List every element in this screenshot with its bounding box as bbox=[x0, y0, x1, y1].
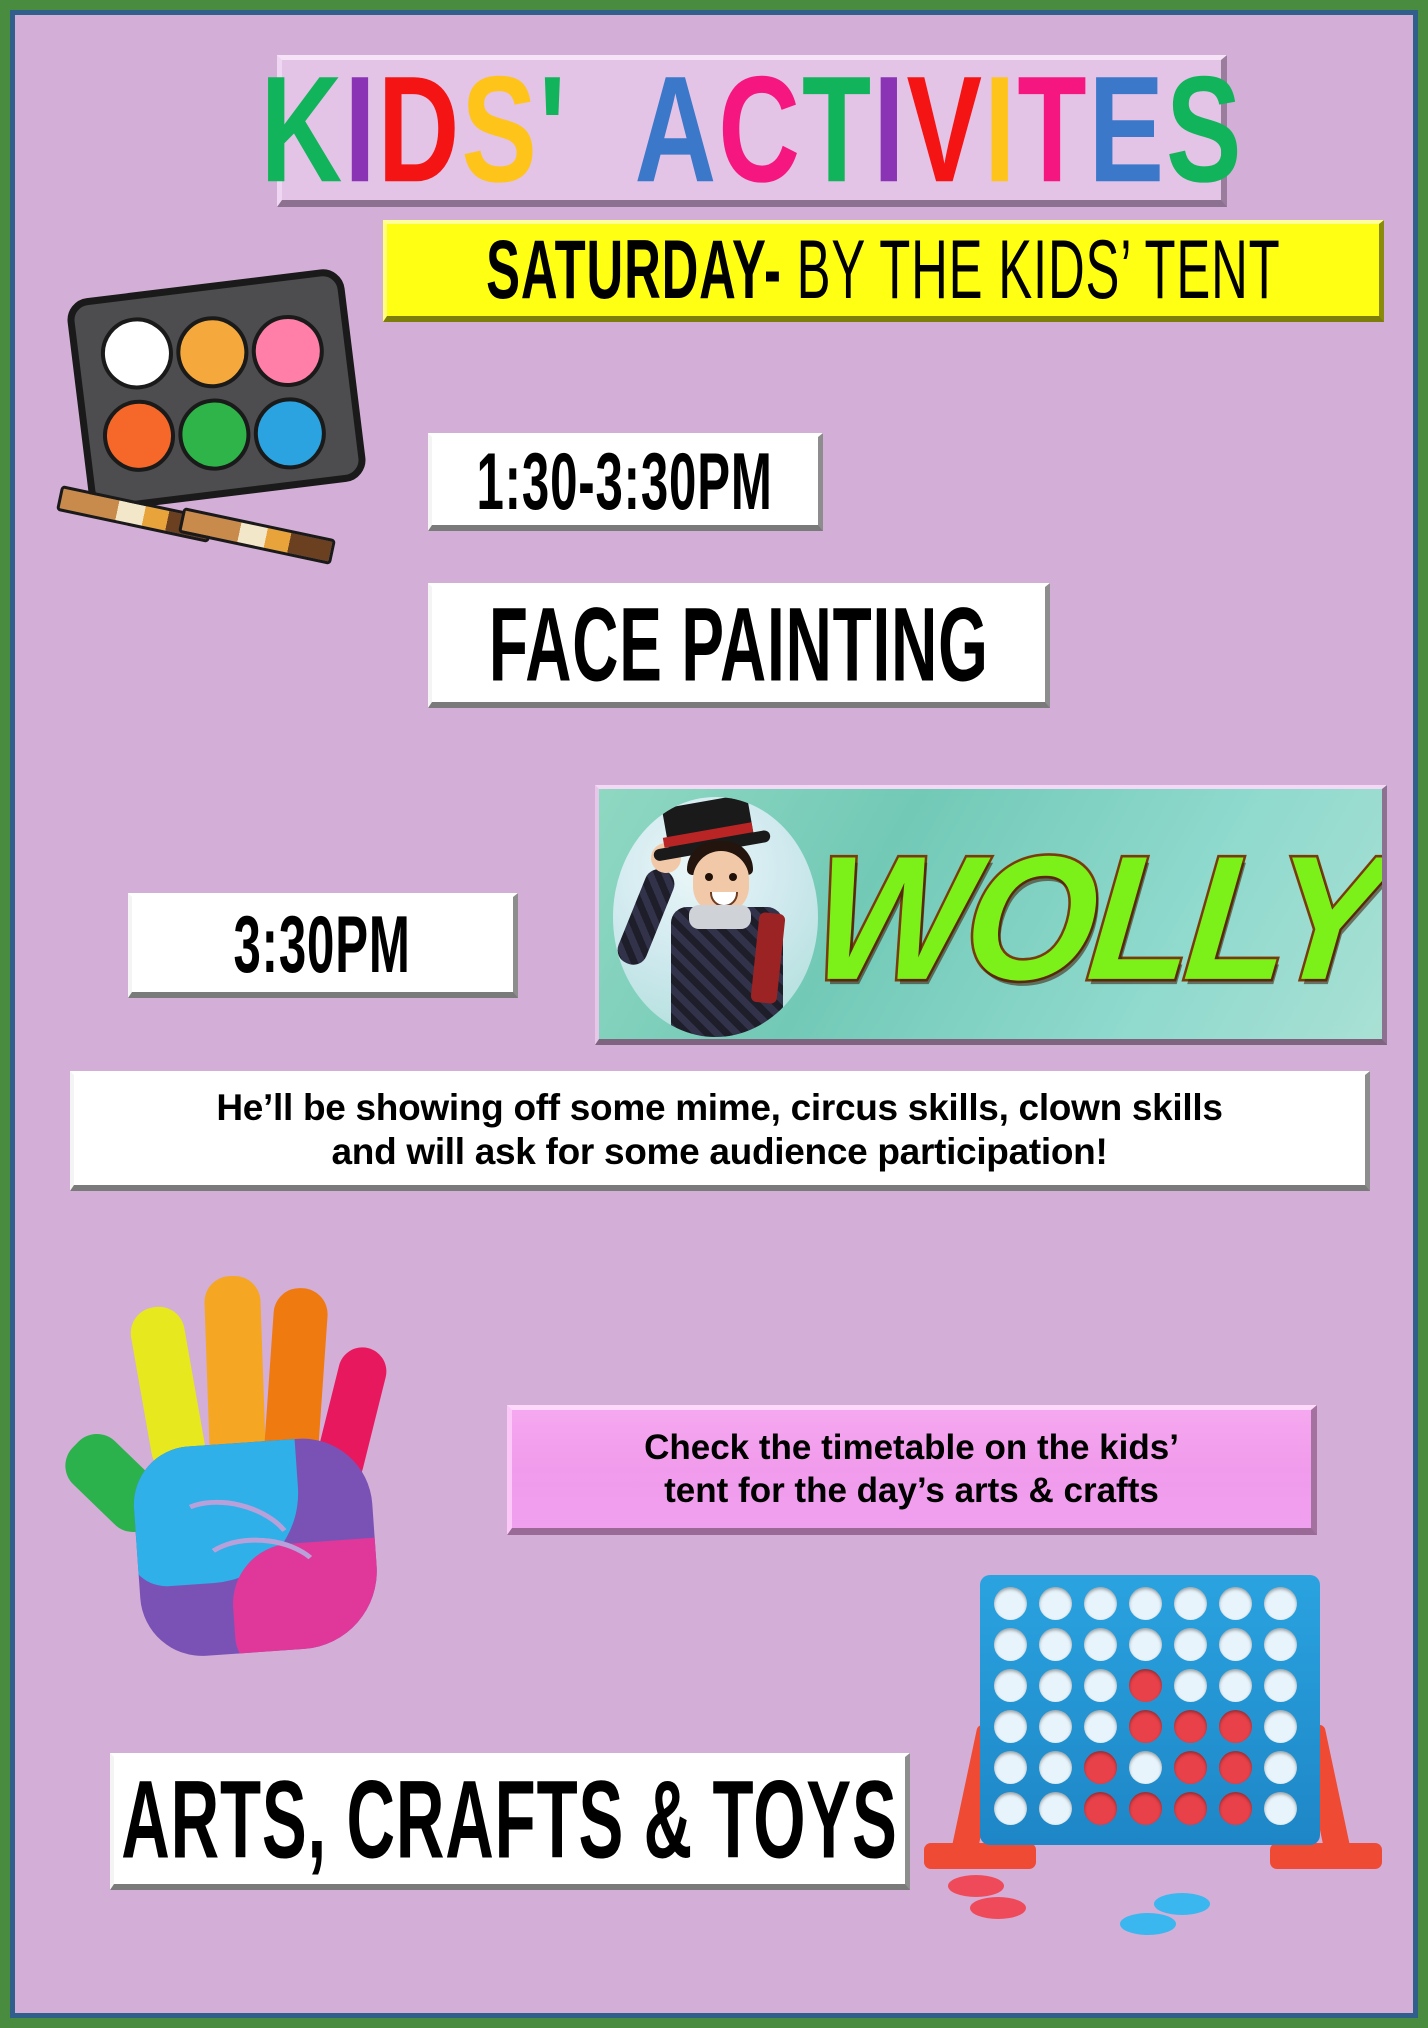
connect-four-hole bbox=[1039, 1751, 1072, 1784]
description-line-2: and will ask for some audience participa… bbox=[331, 1130, 1107, 1174]
title-letter: K bbox=[260, 54, 344, 205]
page-title: KIDS' ACTIVITES bbox=[277, 55, 1227, 207]
title-letter: E bbox=[1088, 54, 1165, 205]
timetable-line-1: Check the timetable on the kids’ bbox=[644, 1426, 1179, 1469]
connect-four-hole bbox=[1084, 1710, 1117, 1743]
connect-four-chip-blue-1 bbox=[1120, 1913, 1176, 1935]
connect-four-hole bbox=[1039, 1628, 1072, 1661]
connect-four-hole bbox=[1084, 1751, 1117, 1784]
title-letter: C bbox=[718, 54, 802, 205]
connect-four-hole bbox=[1039, 1710, 1072, 1743]
connect-four-hole bbox=[1219, 1669, 1252, 1702]
wolly-word-text: WOLLY bbox=[805, 830, 1387, 1006]
connect-four-hole bbox=[994, 1710, 1027, 1743]
performer-eye-left bbox=[705, 873, 713, 881]
schedule-time-1-text: 1:30-3:30PM bbox=[477, 434, 773, 527]
schedule-time-2-text: 3:30PM bbox=[234, 898, 411, 991]
connect-four-hole bbox=[1129, 1587, 1162, 1620]
performer-eye-right bbox=[729, 873, 737, 881]
title-letter: D bbox=[377, 54, 461, 205]
connect-four-hole bbox=[1264, 1710, 1297, 1743]
connect-four-foot-right bbox=[1270, 1843, 1382, 1869]
performer-arm bbox=[613, 865, 678, 969]
connect-four-hole bbox=[1084, 1669, 1117, 1702]
connect-four-hole bbox=[1039, 1587, 1072, 1620]
connect-four-hole bbox=[1129, 1792, 1162, 1825]
performer-scarf bbox=[689, 905, 751, 929]
wolly-description: He’ll be showing off some mime, circus s… bbox=[70, 1071, 1370, 1191]
title-letter: S bbox=[461, 54, 538, 205]
banner-light: BY THE KIDS’ TENT bbox=[796, 223, 1280, 316]
title-letter: I bbox=[983, 54, 1016, 205]
wolly-performer-photo bbox=[613, 797, 818, 1037]
schedule-time-1: 1:30-3:30PM bbox=[428, 433, 823, 531]
connect-four-hole bbox=[1219, 1792, 1252, 1825]
connect-four-hole bbox=[1219, 1751, 1252, 1784]
paint-palette-icon bbox=[67, 283, 367, 593]
banner-bold: SATURDAY- bbox=[486, 223, 782, 316]
palette-tray bbox=[65, 267, 368, 513]
title-letter: I bbox=[873, 54, 906, 205]
connect-four-hole bbox=[1129, 1669, 1162, 1702]
connect-four-hole bbox=[1264, 1751, 1297, 1784]
connect-four-hole bbox=[1174, 1587, 1207, 1620]
connect-four-hole bbox=[1264, 1587, 1297, 1620]
connect-four-chip-red-2 bbox=[970, 1897, 1026, 1919]
connect-four-hole bbox=[994, 1792, 1027, 1825]
title-letter: T bbox=[801, 54, 872, 205]
connect-four-hole bbox=[994, 1751, 1027, 1784]
palette-pan-orange bbox=[172, 312, 252, 392]
description-line-1: He’ll be showing off some mime, circus s… bbox=[216, 1086, 1222, 1130]
poster-frame: KIDS' ACTIVITES SATURDAY- BY THE KIDS’ T… bbox=[0, 0, 1428, 2028]
connect-four-hole bbox=[1264, 1628, 1297, 1661]
connect-four-hole bbox=[1264, 1669, 1297, 1702]
paint-brush-2 bbox=[178, 507, 336, 565]
title-letter bbox=[567, 54, 634, 205]
connect-four-hole bbox=[1129, 1751, 1162, 1784]
title-letter: I bbox=[344, 54, 377, 205]
title-text: KIDS' ACTIVITES bbox=[260, 54, 1243, 205]
schedule-activity-1: FACE PAINTING bbox=[428, 583, 1050, 708]
connect-four-hole bbox=[1129, 1628, 1162, 1661]
connect-four-hole bbox=[1039, 1669, 1072, 1702]
connect-four-hole bbox=[1174, 1710, 1207, 1743]
palette-pan-green bbox=[174, 394, 254, 474]
title-letter: V bbox=[906, 54, 983, 205]
schedule-activity-1-text: FACE PAINTING bbox=[489, 583, 989, 706]
connect-four-chip-red-1 bbox=[948, 1875, 1004, 1897]
connect-four-icon bbox=[930, 1575, 1380, 1975]
connect-four-hole bbox=[1084, 1628, 1117, 1661]
timetable-notice: Check the timetable on the kids’ tent fo… bbox=[507, 1405, 1317, 1535]
poster-body: KIDS' ACTIVITES SATURDAY- BY THE KIDS’ T… bbox=[10, 10, 1418, 2018]
connect-four-hole bbox=[1264, 1792, 1297, 1825]
connect-four-hole bbox=[994, 1628, 1027, 1661]
wolly-logo: WOLLY bbox=[595, 785, 1387, 1045]
palette-pan-red bbox=[99, 396, 179, 476]
connect-four-hole bbox=[1174, 1751, 1207, 1784]
title-letter: T bbox=[1017, 54, 1088, 205]
connect-four-hole bbox=[1219, 1587, 1252, 1620]
schedule-time-2: 3:30PM bbox=[128, 893, 518, 998]
connect-four-hole bbox=[1219, 1628, 1252, 1661]
day-location-banner: SATURDAY- BY THE KIDS’ TENT bbox=[383, 220, 1384, 322]
palette-pan-blue bbox=[250, 393, 330, 473]
connect-four-chip-blue-2 bbox=[1154, 1893, 1210, 1915]
title-letter: A bbox=[634, 54, 718, 205]
banner-text: SATURDAY- BY THE KIDS’ TENT bbox=[486, 222, 1280, 318]
connect-four-hole bbox=[1174, 1792, 1207, 1825]
connect-four-hole bbox=[1219, 1710, 1252, 1743]
connect-four-board bbox=[980, 1575, 1320, 1845]
handprint-icon bbox=[85, 1260, 415, 1700]
palette-pan-pink bbox=[248, 311, 328, 391]
connect-four-hole bbox=[1174, 1669, 1207, 1702]
palette-pan-white bbox=[97, 313, 177, 393]
connect-four-hole bbox=[994, 1587, 1027, 1620]
connect-four-hole bbox=[1084, 1792, 1117, 1825]
connect-four-hole bbox=[1039, 1792, 1072, 1825]
title-letter: S bbox=[1166, 54, 1243, 205]
wolly-wordmark: WOLLY bbox=[814, 795, 1384, 1041]
connect-four-hole bbox=[994, 1669, 1027, 1702]
connect-four-hole bbox=[1129, 1710, 1162, 1743]
title-letter: ' bbox=[538, 54, 567, 205]
handprint-palm bbox=[130, 1434, 382, 1660]
connect-four-hole bbox=[1084, 1587, 1117, 1620]
arts-crafts-banner: ARTS, CRAFTS & TOYS bbox=[110, 1753, 910, 1890]
connect-four-hole bbox=[1174, 1628, 1207, 1661]
arts-crafts-text: ARTS, CRAFTS & TOYS bbox=[121, 1757, 897, 1884]
connect-four-foot-left bbox=[924, 1843, 1036, 1869]
timetable-line-2: tent for the day’s arts & crafts bbox=[664, 1469, 1159, 1512]
